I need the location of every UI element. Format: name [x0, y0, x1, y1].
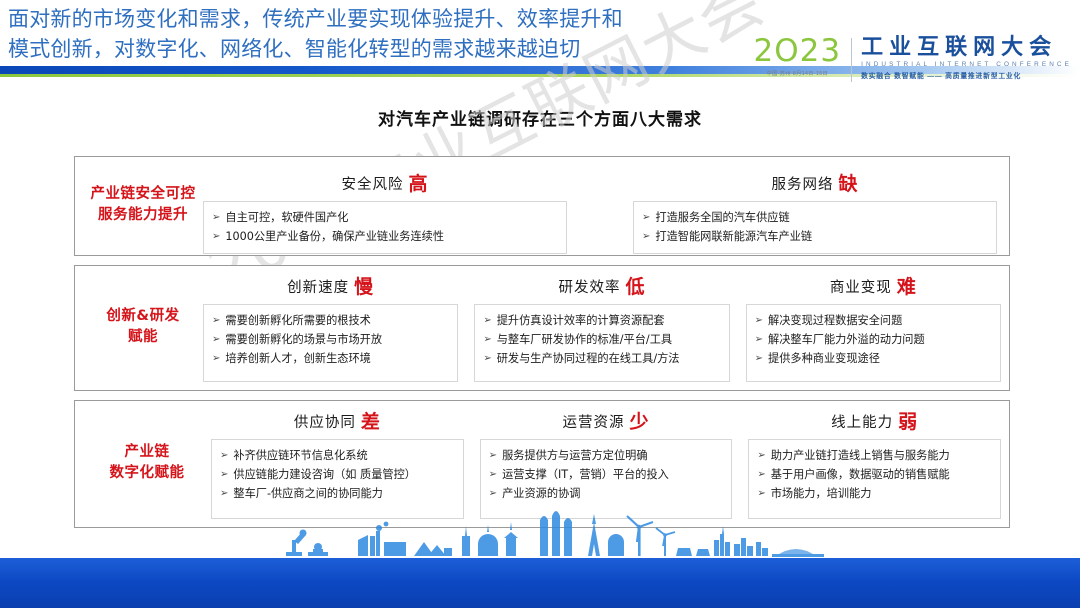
- section-3-label: 产业链 数字化赋能: [83, 407, 211, 519]
- list-item: ➢自主可控，软硬件国产化: [212, 208, 558, 227]
- bullet-text: 解决变现过程数据安全问题: [768, 311, 902, 330]
- bullet-text: 打造智能网联新能源汽车产业链: [655, 227, 812, 246]
- bullet-text: 补齐供应链环节信息化系统: [233, 446, 367, 465]
- bullet-arrow-icon: ➢: [642, 227, 650, 246]
- column-operation-resources-keyword: 少: [630, 411, 650, 433]
- bullet-text: 自主可控，软硬件国产化: [225, 208, 348, 227]
- bullet-arrow-icon: ➢: [489, 446, 497, 465]
- bullet-text: 产业资源的协调: [502, 484, 580, 503]
- logo-name-cn: 工业互联网大会: [861, 36, 1072, 60]
- list-item: ➢助力产业链打造线上销售与服务能力: [757, 446, 992, 465]
- list-item: ➢解决整车厂能力外溢的动力问题: [755, 330, 992, 349]
- bullet-text: 解决整车厂能力外溢的动力问题: [768, 330, 925, 349]
- list-item: ➢打造服务全国的汽车供应链: [642, 208, 988, 227]
- content-area: 产业链安全可控 服务能力提升 安全风险高 ➢自主可控，软硬件国产化 ➢1000公…: [74, 156, 1010, 537]
- column-operation-resources-title: 运营资源: [563, 415, 625, 431]
- bullet-arrow-icon: ➢: [757, 446, 765, 465]
- list-item: ➢市场能力，培训能力: [757, 484, 992, 503]
- list-item: ➢补齐供应链环节信息化系统: [220, 446, 455, 465]
- section-innovation-rd: 创新&研发 赋能 创新速度慢 ➢需要创新孵化所需要的根技术 ➢需要创新孵化的场景…: [74, 265, 1010, 391]
- logo-year-block: 2O23 中国·苏州 8月14日-15日: [754, 36, 852, 77]
- bullet-text: 供应链能力建设咨询（如 质量管控）: [233, 465, 416, 484]
- list-item: ➢提升仿真设计效率的计算资源配套: [483, 311, 720, 330]
- column-security-risk: 安全风险高 ➢自主可控，软硬件国产化 ➢1000公里产业备份，确保产业链业务连续…: [203, 163, 567, 247]
- logo-name-en: INDUSTRIAL INTERNET CONFERENCE: [861, 61, 1072, 68]
- footer-band: [0, 558, 1080, 608]
- bullet-arrow-icon: ➢: [483, 311, 491, 330]
- bullet-text: 基于用户画像，数据驱动的销售赋能: [771, 465, 950, 484]
- column-service-network-title: 服务网络: [771, 177, 833, 193]
- column-operation-resources-head: 运营资源少: [480, 407, 733, 434]
- bullet-text: 助力产业链打造线上销售与服务能力: [771, 446, 950, 465]
- list-item: ➢需要创新孵化的场景与市场开放: [212, 330, 449, 349]
- column-security-risk-head: 安全风险高: [203, 169, 567, 196]
- logo-slogan: 数实融合 数智赋能 —— 高质量推进新型工业化: [861, 70, 1072, 80]
- bullet-arrow-icon: ➢: [220, 484, 228, 503]
- section-2-label-line2: 赋能: [128, 327, 158, 348]
- list-item: ➢服务提供方与运营方定位明确: [489, 446, 724, 465]
- bullet-text: 整车厂-供应商之间的协同能力: [233, 484, 382, 503]
- section-3-label-line2: 数字化赋能: [110, 463, 185, 484]
- bullet-arrow-icon: ➢: [483, 349, 491, 368]
- column-innovation-speed: 创新速度慢 ➢需要创新孵化所需要的根技术 ➢需要创新孵化的场景与市场开放 ➢培养…: [203, 272, 458, 382]
- bullet-arrow-icon: ➢: [212, 349, 220, 368]
- list-item: ➢产业资源的协调: [489, 484, 724, 503]
- bullet-arrow-icon: ➢: [489, 465, 497, 484]
- column-rd-efficiency: 研发效率低 ➢提升仿真设计效率的计算资源配套 ➢与整车厂研发协作的标准/平台/工…: [474, 272, 729, 382]
- section-2-label: 创新&研发 赋能: [83, 272, 203, 382]
- conference-logo: 2O23 中国·苏州 8月14日-15日 工业互联网大会 INDUSTRIAL …: [754, 36, 1072, 84]
- list-item: ➢提供多种商业变现途径: [755, 349, 992, 368]
- column-supply-collaboration-title: 供应协同: [294, 415, 356, 431]
- bullet-text: 需要创新孵化的场景与市场开放: [225, 330, 382, 349]
- column-commercialization-head: 商业变现难: [746, 272, 1001, 299]
- section-1-label-line2: 服务能力提升: [98, 205, 188, 226]
- bullet-arrow-icon: ➢: [755, 349, 763, 368]
- bullet-arrow-icon: ➢: [757, 484, 765, 503]
- section-1-label-line1: 产业链安全可控: [91, 184, 196, 205]
- list-item: ➢整车厂-供应商之间的协同能力: [220, 484, 455, 503]
- column-service-network: 服务网络缺 ➢打造服务全国的汽车供应链 ➢打造智能网联新能源汽车产业链: [633, 163, 997, 247]
- column-commercialization-title: 商业变现: [830, 280, 892, 296]
- column-security-risk-title: 安全风险: [341, 177, 403, 193]
- list-item: ➢基于用户画像，数据驱动的销售赋能: [757, 465, 992, 484]
- bullet-arrow-icon: ➢: [755, 311, 763, 330]
- list-item: ➢打造智能网联新能源汽车产业链: [642, 227, 988, 246]
- bullet-text: 打造服务全国的汽车供应链: [655, 208, 789, 227]
- column-innovation-speed-head: 创新速度慢: [203, 272, 458, 299]
- column-commercialization-keyword: 难: [897, 276, 917, 298]
- bullet-arrow-icon: ➢: [642, 208, 650, 227]
- logo-text-block: 工业互联网大会 INDUSTRIAL INTERNET CONFERENCE 数…: [861, 36, 1072, 80]
- column-supply-collaboration-head: 供应协同差: [211, 407, 464, 434]
- bullet-text: 需要创新孵化所需要的根技术: [225, 311, 370, 330]
- column-innovation-speed-body: ➢需要创新孵化所需要的根技术 ➢需要创新孵化的场景与市场开放 ➢培养创新人才，创…: [203, 304, 458, 382]
- list-item: ➢与整车厂研发协作的标准/平台/工具: [483, 330, 720, 349]
- bullet-text: 与整车厂研发协作的标准/平台/工具: [497, 330, 672, 349]
- slide-title: 对汽车产业链调研存在三个方面八大需求: [0, 105, 1080, 130]
- bullet-arrow-icon: ➢: [755, 330, 763, 349]
- bullet-text: 研发与生产协同过程的在线工具/方法: [497, 349, 680, 368]
- bullet-arrow-icon: ➢: [483, 330, 491, 349]
- logo-divider: [851, 38, 852, 82]
- bullet-text: 培养创新人才，创新生态环境: [225, 349, 370, 368]
- section-3-label-line1: 产业链: [125, 442, 170, 463]
- list-item: ➢解决变现过程数据安全问题: [755, 311, 992, 330]
- column-security-risk-body: ➢自主可控，软硬件国产化 ➢1000公里产业备份，确保产业链业务连续性: [203, 201, 567, 254]
- bullet-text: 提升仿真设计效率的计算资源配套: [497, 311, 665, 330]
- section-1-columns: 安全风险高 ➢自主可控，软硬件国产化 ➢1000公里产业备份，确保产业链业务连续…: [203, 163, 1001, 247]
- column-online-capability-keyword: 弱: [898, 411, 918, 433]
- section-3-columns: 供应协同差 ➢补齐供应链环节信息化系统 ➢供应链能力建设咨询（如 质量管控） ➢…: [211, 407, 1001, 519]
- bullet-arrow-icon: ➢: [212, 208, 220, 227]
- list-item: ➢运营支撑（IT，营销）平台的投入: [489, 465, 724, 484]
- bullet-arrow-icon: ➢: [212, 330, 220, 349]
- column-innovation-speed-title: 创新速度: [287, 280, 349, 296]
- logo-year: 2O23: [754, 36, 842, 67]
- list-item: ➢供应链能力建设咨询（如 质量管控）: [220, 465, 455, 484]
- column-supply-collaboration: 供应协同差 ➢补齐供应链环节信息化系统 ➢供应链能力建设咨询（如 质量管控） ➢…: [211, 407, 464, 519]
- column-rd-efficiency-title: 研发效率: [558, 280, 620, 296]
- bullet-text: 提供多种商业变现途径: [768, 349, 880, 368]
- column-operation-resources: 运营资源少 ➢服务提供方与运营方定位明确 ➢运营支撑（IT，营销）平台的投入 ➢…: [480, 407, 733, 519]
- bullet-text: 1000公里产业备份，确保产业链业务连续性: [225, 227, 444, 246]
- column-service-network-body: ➢打造服务全国的汽车供应链 ➢打造智能网联新能源汽车产业链: [633, 201, 997, 254]
- list-item: ➢需要创新孵化所需要的根技术: [212, 311, 449, 330]
- bullet-arrow-icon: ➢: [212, 311, 220, 330]
- column-innovation-speed-keyword: 慢: [354, 276, 374, 298]
- column-rd-efficiency-keyword: 低: [625, 276, 645, 298]
- bullet-arrow-icon: ➢: [220, 446, 228, 465]
- column-commercialization: 商业变现难 ➢解决变现过程数据安全问题 ➢解决整车厂能力外溢的动力问题 ➢提供多…: [746, 272, 1001, 382]
- column-rd-efficiency-head: 研发效率低: [474, 272, 729, 299]
- section-2-label-line1: 创新&研发: [106, 306, 179, 327]
- section-supply-chain-security: 产业链安全可控 服务能力提升 安全风险高 ➢自主可控，软硬件国产化 ➢1000公…: [74, 156, 1010, 256]
- section-1-label: 产业链安全可控 服务能力提升: [83, 163, 203, 247]
- column-online-capability: 线上能力弱 ➢助力产业链打造线上销售与服务能力 ➢基于用户画像，数据驱动的销售赋…: [748, 407, 1001, 519]
- list-item: ➢培养创新人才，创新生态环境: [212, 349, 449, 368]
- logo-year-subtitle: 中国·苏州 8月14日-15日: [754, 70, 842, 77]
- column-supply-collaboration-keyword: 差: [361, 411, 381, 433]
- header-band: 面对新的市场变化和需求，传统产业要实现体验提升、效率提升和 模式创新，对数字化、…: [0, 0, 1080, 90]
- column-service-network-keyword: 缺: [838, 173, 858, 195]
- list-item: ➢研发与生产协同过程的在线工具/方法: [483, 349, 720, 368]
- bullet-text: 运营支撑（IT，营销）平台的投入: [502, 465, 669, 484]
- column-rd-efficiency-body: ➢提升仿真设计效率的计算资源配套 ➢与整车厂研发协作的标准/平台/工具 ➢研发与…: [474, 304, 729, 382]
- bullet-arrow-icon: ➢: [212, 227, 220, 246]
- skyline-decoration: [0, 506, 1080, 566]
- column-online-capability-title: 线上能力: [831, 415, 893, 431]
- bullet-text: 服务提供方与运营方定位明确: [502, 446, 647, 465]
- list-item: ➢1000公里产业备份，确保产业链业务连续性: [212, 227, 558, 246]
- column-commercialization-body: ➢解决变现过程数据安全问题 ➢解决整车厂能力外溢的动力问题 ➢提供多种商业变现途…: [746, 304, 1001, 382]
- column-online-capability-head: 线上能力弱: [748, 407, 1001, 434]
- bullet-arrow-icon: ➢: [757, 465, 765, 484]
- bullet-arrow-icon: ➢: [489, 484, 497, 503]
- bullet-text: 市场能力，培训能力: [771, 484, 872, 503]
- column-security-risk-keyword: 高: [408, 173, 428, 195]
- section-2-columns: 创新速度慢 ➢需要创新孵化所需要的根技术 ➢需要创新孵化的场景与市场开放 ➢培养…: [203, 272, 1001, 382]
- header-title: 面对新的市场变化和需求，传统产业要实现体验提升、效率提升和 模式创新，对数字化、…: [8, 4, 708, 64]
- bullet-arrow-icon: ➢: [220, 465, 228, 484]
- column-service-network-head: 服务网络缺: [633, 169, 997, 196]
